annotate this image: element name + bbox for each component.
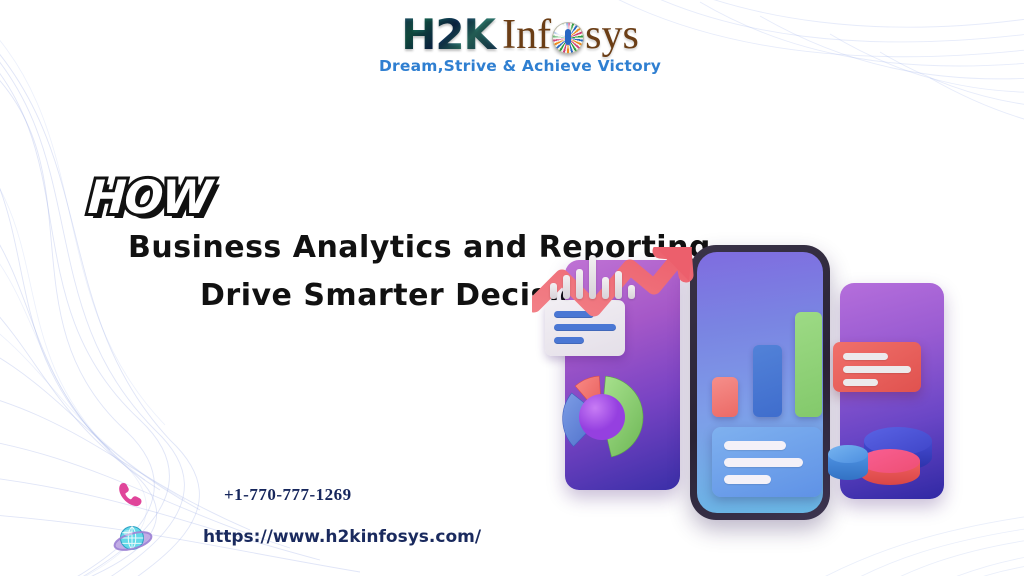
- mini-bar: [589, 255, 596, 299]
- phone-bar-2: [753, 345, 782, 417]
- brand-logo[interactable]: H2K Inf sys Dream,Strive & Achieve Victo…: [375, 14, 665, 75]
- globe-planet-icon: [112, 520, 156, 554]
- mini-bar: [615, 271, 622, 299]
- red-note-card: [833, 342, 921, 392]
- contact-phone-number: +1-770-777-1269: [224, 485, 352, 505]
- headline-eyebrow: HOW: [87, 170, 212, 224]
- contact-block: +1-770-777-1269: [112, 474, 481, 558]
- phone-bar-3: [795, 312, 822, 417]
- note-card-line: [843, 353, 888, 360]
- mini-bar: [628, 285, 635, 299]
- pie-chart-3d: [826, 407, 951, 485]
- business-analytics-illustration: [540, 245, 990, 535]
- mini-bar: [576, 269, 583, 299]
- logo-tagline: Dream,Strive & Achieve Victory: [375, 57, 665, 75]
- contact-website-url[interactable]: https://www.h2kinfosys.com/: [203, 527, 481, 547]
- contact-phone-row[interactable]: +1-770-777-1269: [112, 474, 481, 516]
- logo-wordmark: H2K Inf sys: [375, 14, 665, 56]
- mini-bar: [563, 275, 570, 299]
- memo-line: [554, 324, 616, 331]
- phone-bar-1: [712, 377, 738, 417]
- phone-screen: [697, 252, 823, 513]
- white-memo-card: [545, 300, 625, 356]
- logo-h2k-text: H2K: [401, 14, 502, 56]
- blue-info-card: [712, 427, 822, 497]
- mini-bar: [550, 283, 557, 299]
- smartphone-dashboard[interactable]: [690, 245, 830, 520]
- memo-line: [554, 311, 594, 318]
- logo-inf-text: Inf: [502, 14, 551, 56]
- info-card-line: [724, 441, 786, 450]
- memo-line: [554, 337, 584, 344]
- note-card-line: [843, 366, 911, 373]
- phone-handset-icon: [112, 478, 146, 512]
- white-mini-bar-chart: [550, 255, 634, 299]
- mini-bar: [602, 277, 609, 299]
- banner-canvas: H2K Inf sys Dream,Strive & Achieve Victo…: [0, 0, 1024, 576]
- info-card-line: [724, 458, 803, 467]
- info-card-line: [724, 475, 771, 484]
- globe-people-icon: [552, 22, 584, 54]
- donut-chart: [552, 367, 652, 467]
- logo-sys-text: sys: [585, 14, 639, 56]
- note-card-line: [843, 379, 878, 386]
- contact-website-row[interactable]: https://www.h2kinfosys.com/: [112, 516, 481, 558]
